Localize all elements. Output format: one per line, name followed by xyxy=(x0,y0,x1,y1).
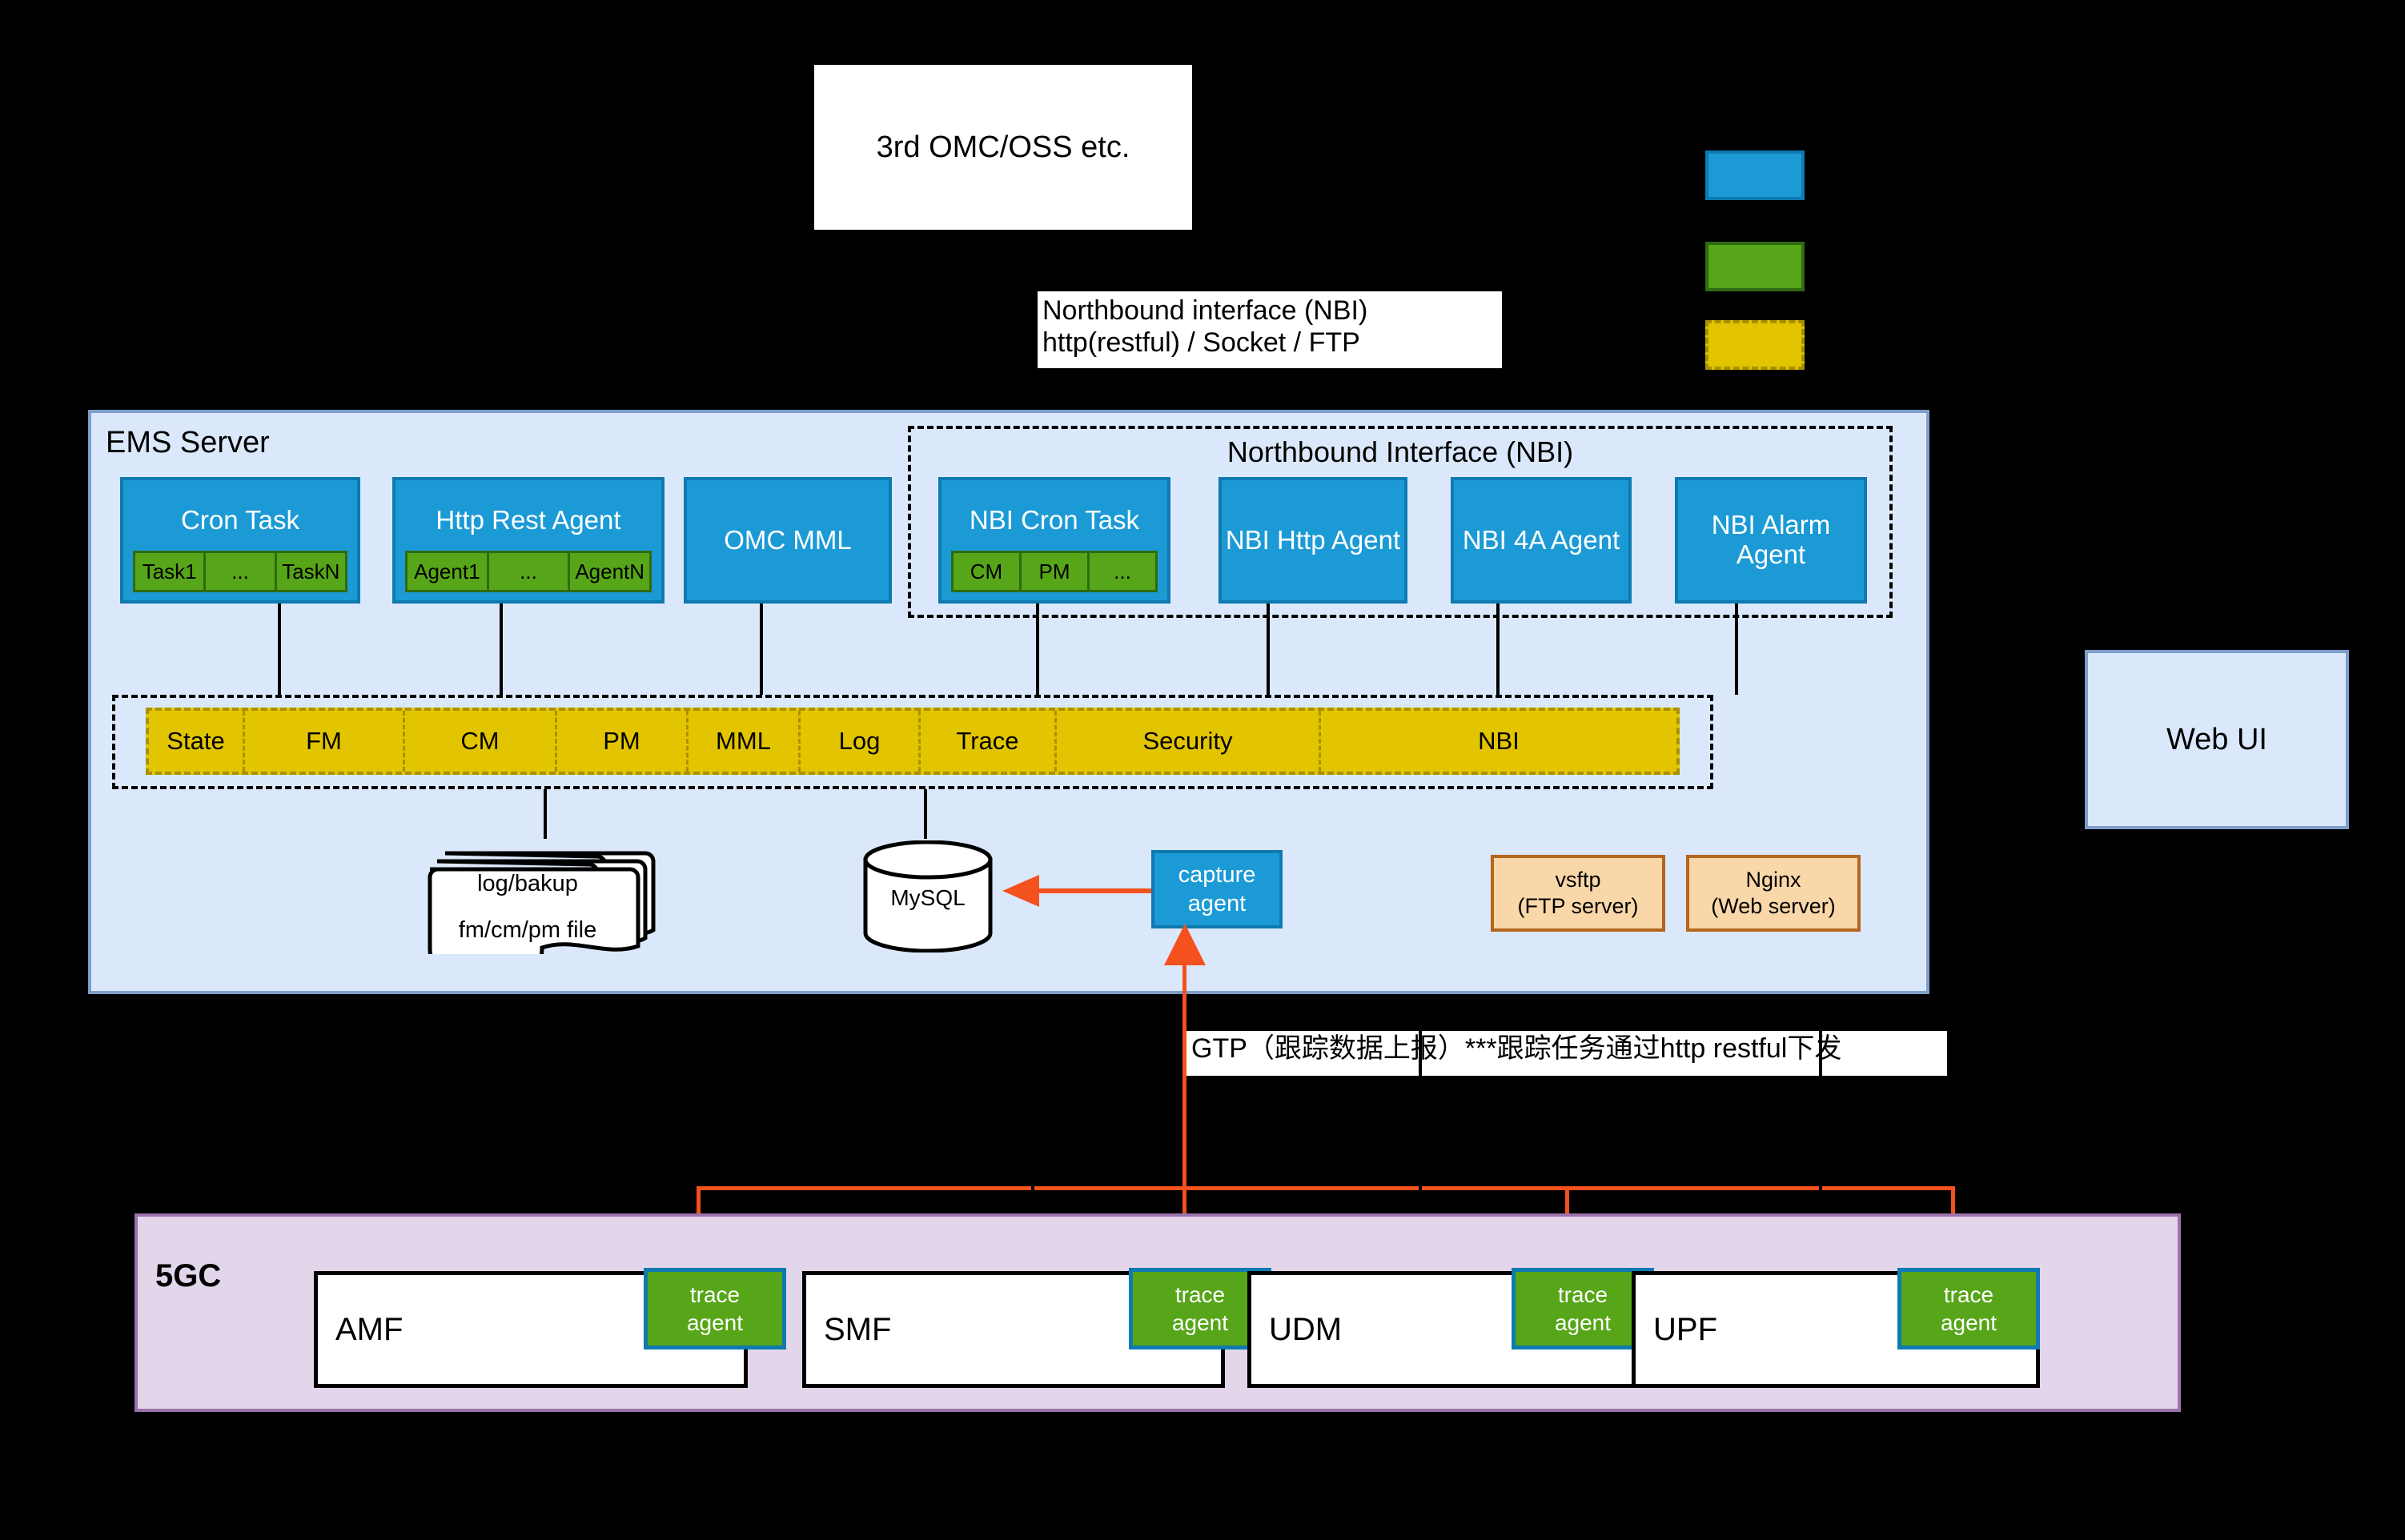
component-http-rest-agent[interactable]: Http Rest Agent Agent1 ... AgentN xyxy=(392,477,664,604)
service-bus-cell-mml[interactable]: MML xyxy=(689,711,801,772)
trace-agent-smf-line1: trace xyxy=(1172,1281,1228,1309)
service-bus-cell-fm[interactable]: FM xyxy=(245,711,405,772)
capture-agent-line2: agent xyxy=(1178,889,1256,918)
component-nbi-alarm-agent[interactable]: NBI Alarm Agent xyxy=(1675,477,1867,604)
component-nbi-cron-task[interactable]: NBI Cron Task CM PM ... xyxy=(938,477,1170,604)
component-nbi-http-agent[interactable]: NBI Http Agent xyxy=(1219,477,1407,604)
component-http-rest-agent-title: Http Rest Agent xyxy=(436,480,620,551)
http-rest-agent-cell: ... xyxy=(489,553,571,590)
nbi-protocol-note: Northbound interface (NBI) http(restful)… xyxy=(1038,291,1502,368)
service-bus: State FM CM PM MML Log Trace Security NB… xyxy=(146,708,1680,775)
http-rest-agent-cell: AgentN xyxy=(570,553,649,590)
server-nginx[interactable]: Nginx (Web server) xyxy=(1686,855,1861,932)
legend-green-swatch xyxy=(1705,242,1805,291)
connector-nbi-cron-task xyxy=(1036,604,1039,695)
trace-agent-smf-line2: agent xyxy=(1172,1309,1228,1337)
component-cron-task-title: Cron Task xyxy=(181,480,299,551)
legend-blue-swatch xyxy=(1705,150,1805,200)
service-bus-cell-trace[interactable]: Trace xyxy=(921,711,1057,772)
trace-agent-amf[interactable]: trace agent xyxy=(644,1268,786,1350)
server-nginx-line1: Nginx xyxy=(1711,867,1836,893)
trace-agent-upf[interactable]: trace agent xyxy=(1897,1268,2040,1350)
trace-agent-udm-line1: trace xyxy=(1555,1281,1611,1309)
connector-bus-to-files xyxy=(544,789,547,839)
nbi-protocol-note-line1: Northbound interface (NBI) xyxy=(1042,295,1497,327)
trace-agent-upf-line1: trace xyxy=(1941,1281,1997,1309)
external-omc-oss-label: 3rd OMC/OSS etc. xyxy=(877,130,1130,165)
network-function-upf-label: UPF xyxy=(1636,1312,1717,1348)
connector-nbi-4a-agent xyxy=(1496,604,1500,695)
network-function-smf-label: SMF xyxy=(806,1312,891,1348)
cron-task-cell: ... xyxy=(206,553,276,590)
connector-http-rest-agent xyxy=(500,604,503,695)
connector-nbi-http-agent xyxy=(1267,604,1270,695)
cron-task-subcells: Task1 ... TaskN xyxy=(133,551,347,592)
component-cron-task[interactable]: Cron Task Task1 ... TaskN xyxy=(120,477,360,604)
file-stack-label-line1: log/bakup xyxy=(436,868,620,900)
capture-agent-line1: capture xyxy=(1178,860,1256,889)
nbi-cron-task-cell: ... xyxy=(1090,553,1155,590)
component-nbi-4a-agent[interactable]: NBI 4A Agent xyxy=(1451,477,1632,604)
nbi-cron-task-cell: CM xyxy=(954,553,1022,590)
ems-server-title: EMS Server xyxy=(106,426,270,460)
component-nbi-cron-task-title: NBI Cron Task xyxy=(970,480,1139,551)
arrow-capture-to-mysql xyxy=(994,871,1154,911)
connector-external-to-ems xyxy=(1002,231,1005,410)
network-function-udm-label: UDM xyxy=(1251,1312,1342,1348)
core-network-title: 5GC xyxy=(155,1258,221,1294)
nbi-cron-task-subcells: CM PM ... xyxy=(951,551,1158,592)
service-bus-cell-log[interactable]: Log xyxy=(801,711,921,772)
network-function-amf-label: AMF xyxy=(318,1312,403,1348)
web-ui-label: Web UI xyxy=(2166,723,2267,757)
gtp-annotation-label: GTP（跟踪数据上报）***跟踪任务通过http restful下发 xyxy=(1186,1031,1947,1076)
server-vsftp-line1: vsftp xyxy=(1517,867,1638,893)
web-ui-box[interactable]: Web UI xyxy=(2085,650,2349,829)
server-nginx-line2: (Web server) xyxy=(1711,893,1836,920)
database-label: MySQL xyxy=(860,882,996,914)
trace-agent-upf-line2: agent xyxy=(1941,1309,1997,1337)
trace-agent-amf-line1: trace xyxy=(687,1281,743,1309)
component-omc-mml-title: OMC MML xyxy=(724,480,852,600)
http-rest-agent-subcells: Agent1 ... AgentN xyxy=(405,551,652,592)
gtp-horizontal-bus xyxy=(698,1186,1955,1190)
external-omc-oss-box: 3rd OMC/OSS etc. xyxy=(813,64,1193,231)
nbi-protocol-note-line2: http(restful) / Socket / FTP xyxy=(1042,327,1497,359)
gtp-annotation-text: GTP（跟踪数据上报）***跟踪任务通过http restful下发 xyxy=(1191,1033,1841,1064)
trace-agent-udm-line2: agent xyxy=(1555,1309,1611,1337)
service-bus-cell-pm[interactable]: PM xyxy=(557,711,689,772)
component-nbi-http-agent-title: NBI Http Agent xyxy=(1226,480,1400,600)
connector-omc-mml xyxy=(760,604,763,695)
cron-task-cell: TaskN xyxy=(277,553,345,590)
core-network-container: 5GC AMF trace agent SMF trace agent UDM … xyxy=(135,1213,2181,1412)
ems-server-container: EMS Server Cron Task Task1 ... TaskN Htt… xyxy=(88,410,1929,994)
server-vsftp-line2: (FTP server) xyxy=(1517,893,1638,920)
file-stack-label-line2: fm/cm/pm file xyxy=(432,914,624,946)
connector-nbi-alarm-agent xyxy=(1735,604,1738,695)
legend-yellow-swatch xyxy=(1705,320,1805,370)
nbi-group-title: Northbound Interface (NBI) xyxy=(911,435,1889,469)
gtp-vertical-trunk xyxy=(1182,965,1186,1189)
component-omc-mml[interactable]: OMC MML xyxy=(684,477,892,604)
connector-cron-task xyxy=(278,604,281,695)
service-bus-cell-state[interactable]: State xyxy=(149,711,245,772)
capture-agent-box[interactable]: capture agent xyxy=(1151,850,1283,928)
component-nbi-alarm-agent-title: NBI Alarm Agent xyxy=(1678,480,1864,600)
service-bus-cell-cm[interactable]: CM xyxy=(405,711,557,772)
trace-agent-amf-line2: agent xyxy=(687,1309,743,1337)
connector-bus-to-mysql xyxy=(924,789,927,839)
component-nbi-4a-agent-title: NBI 4A Agent xyxy=(1463,480,1620,600)
service-bus-cell-nbi[interactable]: NBI xyxy=(1321,711,1676,772)
cron-task-cell: Task1 xyxy=(135,553,206,590)
nbi-cron-task-cell: PM xyxy=(1022,553,1090,590)
service-bus-cell-security[interactable]: Security xyxy=(1057,711,1321,772)
server-vsftp[interactable]: vsftp (FTP server) xyxy=(1491,855,1665,932)
http-rest-agent-cell: Agent1 xyxy=(408,553,489,590)
